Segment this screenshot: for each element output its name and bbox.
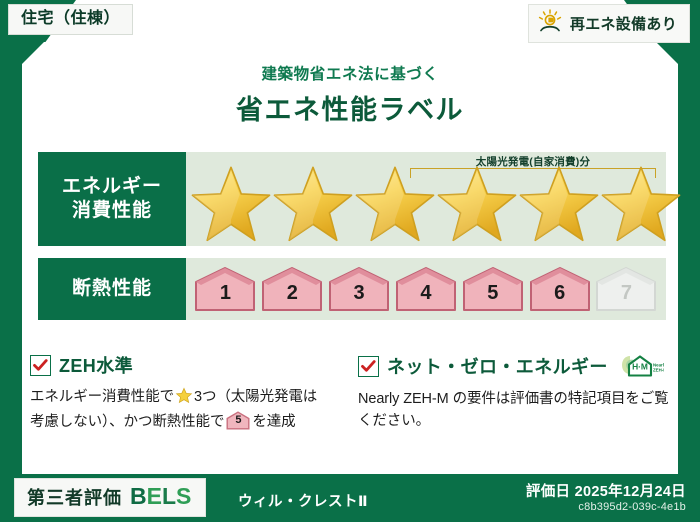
insulation-label: 断熱性能	[72, 277, 152, 301]
check-icon	[358, 356, 379, 377]
label-title: 省エネ性能ラベル	[0, 88, 700, 127]
evaluation-date-value: 2025年12月24日	[575, 484, 686, 500]
insulation-level-7: 7	[595, 266, 657, 312]
svg-text:H·M: H·M	[632, 362, 648, 372]
nearly-zeh-m-logo-icon: H·M Nearly ZEH-M	[620, 352, 664, 380]
energy-performance-label-cell: エネルギー 消費性能	[38, 152, 186, 246]
feature-zeh-title: ZEH水準	[59, 352, 133, 378]
insulation-performance-label-cell: 断熱性能	[38, 258, 186, 320]
bels-certification-chip: 第三者評価 BELS	[14, 478, 206, 517]
star-icon	[436, 164, 518, 242]
insulation-level-2: 2	[261, 266, 323, 312]
energy-performance-row: エネルギー 消費性能 太陽光発電(自家消費)分	[38, 152, 666, 246]
renewable-badge-label: 再エネ設備あり	[570, 13, 677, 34]
insulation-level-value: 5	[462, 282, 524, 305]
evaluation-date-label: 評価日	[526, 484, 570, 500]
energy-performance-label: 住宅（住棟） 再エネ設備あり 建築物省エネ法に基づく 省エネ性能ラベル	[0, 0, 700, 522]
project-name: ウィル・クレストⅡ	[238, 490, 368, 511]
star-icon	[272, 164, 354, 242]
renewable-equipment-badge: 再エネ設備あり	[528, 4, 690, 43]
insulation-level-5: 5	[462, 266, 524, 312]
feature-zeh-text-pre: エネルギー消費性能で	[30, 389, 174, 405]
insulation-level-value: 2	[261, 282, 323, 305]
insulation-level-value: 6	[529, 282, 591, 305]
insulation-level-group: 1234567	[186, 258, 666, 320]
star-icon	[518, 164, 600, 242]
evaluation-id: c8b395d2-039c-4e1b	[578, 501, 686, 513]
insulation-level-3: 3	[328, 266, 390, 312]
insulation-level-value: 4	[395, 282, 457, 305]
feature-nze-header: ネット・ゼロ・エネルギー H·M Nearly ZEH-M	[358, 352, 670, 380]
star-rating-group	[186, 164, 666, 244]
inline-star-icon	[175, 392, 193, 408]
insulation-level-value: 7	[595, 282, 657, 305]
feature-zeh-text-post: を達成	[252, 414, 295, 430]
label-subtitle: 建築物省エネ法に基づく	[0, 62, 700, 84]
feature-nze-title: ネット・ゼロ・エネルギー	[387, 353, 608, 379]
solar-sun-icon	[537, 9, 563, 38]
energy-label-line2: 消費性能	[72, 199, 152, 223]
insulation-level-value: 1	[194, 282, 256, 305]
insulation-level-1: 1	[194, 266, 256, 312]
inline-level-badge: 5	[226, 411, 250, 429]
house-type-chip: 住宅（住棟）	[8, 4, 133, 35]
svg-text:ZEH-M: ZEH-M	[653, 367, 664, 372]
evaluation-date: 評価日 2025年12月24日	[526, 480, 686, 501]
bels-wordmark: BELS	[130, 485, 191, 508]
insulation-level-6: 6	[529, 266, 591, 312]
insulation-level-4: 4	[395, 266, 457, 312]
star-icon	[190, 164, 272, 242]
feature-zeh-header: ZEH水準	[30, 352, 330, 378]
insulation-levels-panel: 1234567	[186, 258, 666, 320]
insulation-performance-row: 断熱性能 1234567	[38, 258, 666, 320]
label-footer: 第三者評価 BELS ウィル・クレストⅡ 評価日 2025年12月24日 c8b…	[0, 474, 700, 522]
star-icon	[600, 164, 682, 242]
third-party-label: 第三者評価	[27, 484, 122, 510]
feature-zeh-standard: ZEH水準 エネルギー消費性能で3つ（太陽光発電は考慮しない）、かつ断熱性能で5…	[30, 352, 330, 434]
check-icon	[30, 355, 51, 376]
energy-label-line1: エネルギー	[62, 175, 162, 199]
inline-level-badge-value: 5	[226, 411, 250, 429]
insulation-level-value: 3	[328, 282, 390, 305]
energy-performance-stars-panel: 太陽光発電(自家消費)分	[186, 152, 666, 246]
feature-nze-description: Nearly ZEH-M の要件は評価書の特記項目をご覧ください。	[358, 388, 670, 433]
feature-zeh-description: エネルギー消費性能で3つ（太陽光発電は考慮しない）、かつ断熱性能で5を達成	[30, 386, 330, 434]
star-icon	[354, 164, 436, 242]
title-block: 建築物省エネ法に基づく 省エネ性能ラベル	[0, 62, 700, 127]
feature-net-zero-energy: ネット・ゼロ・エネルギー H·M Nearly ZEH-M Nearly ZEH…	[358, 352, 670, 433]
